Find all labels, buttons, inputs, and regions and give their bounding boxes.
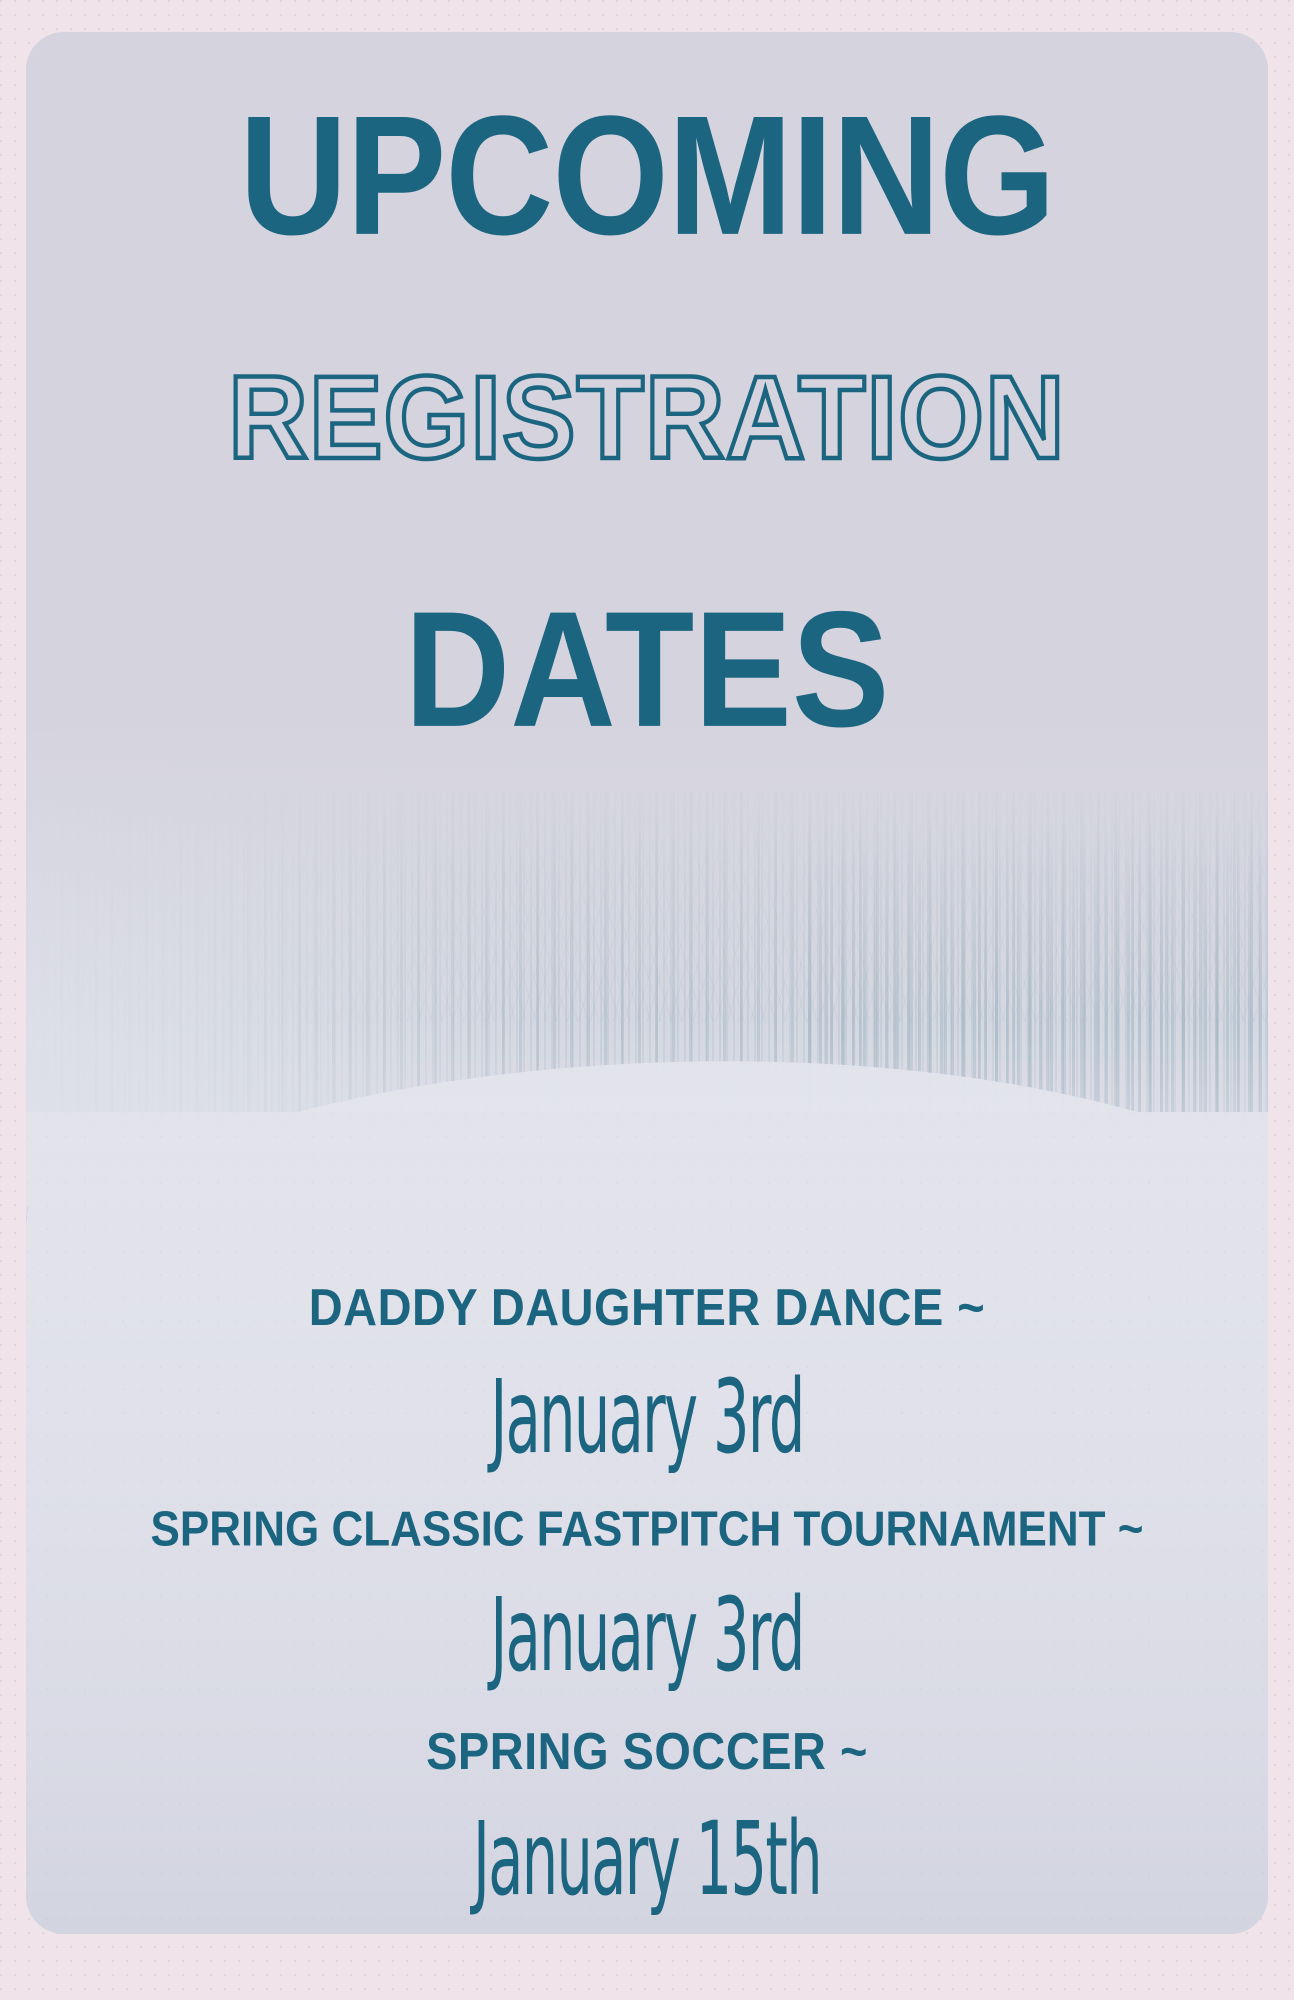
event-item: DADDY DAUGHTER DANCE ~ January 3rd [26, 1284, 1268, 1452]
poster-page: UPCOMING REGISTRATION DATES DADDY DAUGHT… [0, 0, 1294, 2000]
poster-card: UPCOMING REGISTRATION DATES DADDY DAUGHT… [26, 32, 1268, 1934]
event-title: SPRING SOCCER ~ [26, 1725, 1268, 1777]
headline-block: UPCOMING REGISTRATION DATES [26, 84, 1268, 711]
headline-registration-outlined: REGISTRATION [26, 234, 1268, 477]
event-date: January 3rd [138, 1366, 1156, 1468]
event-date: January 15th [138, 1808, 1156, 1910]
poster-content: UPCOMING REGISTRATION DATES DADDY DAUGHT… [26, 32, 1268, 1934]
event-item: SPRING SOCCER ~ January 15th [26, 1728, 1268, 1894]
events-list: DADDY DAUGHTER DANCE ~ January 3rd SPRIN… [26, 1284, 1268, 1894]
event-date: January 3rd [138, 1584, 1156, 1686]
event-title: DADDY DAUGHTER DANCE ~ [26, 1281, 1268, 1333]
headline-dates: DATES [26, 451, 1268, 753]
event-title: SPRING CLASSIC FASTPITCH TOURNAMENT ~ [26, 1505, 1268, 1554]
event-item: SPRING CLASSIC FASTPITCH TOURNAMENT ~ Ja… [26, 1508, 1268, 1670]
